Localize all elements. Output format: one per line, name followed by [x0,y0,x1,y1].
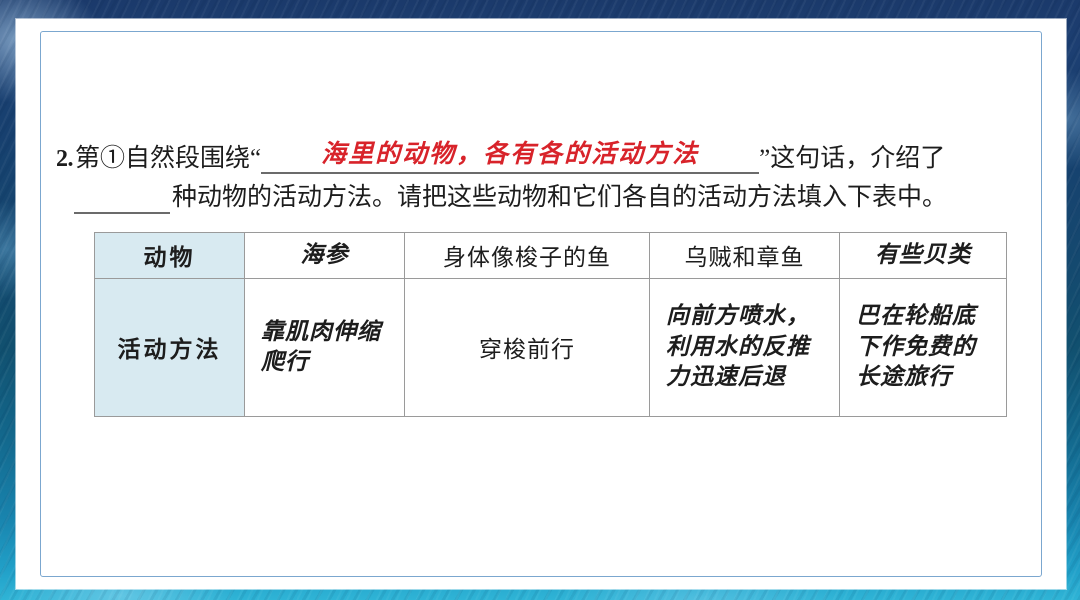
question-line2-text: 种动物的活动方法。请把这些动物和它们各自的活动方法填入下表中。 [172,182,947,213]
table-cell-method-2: 穿梭前行 [405,278,650,416]
table-cell-animal-3: 乌贼和章鱼 [650,232,840,278]
question-lead-text: 第①自然段围绕“ [75,143,261,174]
table-row: 动物 海参 身体像梭子的鱼 乌贼和章鱼 有些贝类 [95,232,1007,278]
question-after-quote-text: ”这句话，介绍了 [759,143,945,174]
answer-blank-quote[interactable]: 海里的动物，各有各的活动方法 [261,139,759,174]
answer-table: 动物 海参 身体像梭子的鱼 乌贼和章鱼 有些贝类 活动方法 靠肌肉伸缩爬行 穿梭… [94,232,1007,417]
table-cell-animal-4[interactable]: 有些贝类 [840,232,1007,278]
question-number: 2. [56,144,75,174]
answer-table-wrapper: 动物 海参 身体像梭子的鱼 乌贼和章鱼 有些贝类 活动方法 靠肌肉伸缩爬行 穿梭… [94,232,1036,417]
question-line-1: 2. 第①自然段围绕“ 海里的动物，各有各的活动方法 ”这句话，介绍了 [56,139,1036,174]
worksheet-page: 2. 第①自然段围绕“ 海里的动物，各有各的活动方法 ”这句话，介绍了 种动物的… [0,0,1080,600]
table-rowlabel-animal: 动物 [95,232,245,278]
answer-quote-text: 海里的动物，各有各的活动方法 [321,141,699,168]
table-rowlabel-method: 活动方法 [95,278,245,416]
table-cell-animal-2: 身体像梭子的鱼 [405,232,650,278]
table-cell-animal-1[interactable]: 海参 [245,232,405,278]
table-cell-method-4[interactable]: 巴在轮船底下作免费的长途旅行 [840,278,1007,416]
worksheet-card: 2. 第①自然段围绕“ 海里的动物，各有各的活动方法 ”这句话，介绍了 种动物的… [16,19,1066,589]
table-cell-method-1[interactable]: 靠肌肉伸缩爬行 [245,278,405,416]
question-content: 2. 第①自然段围绕“ 海里的动物，各有各的活动方法 ”这句话，介绍了 种动物的… [56,139,1036,417]
table-row: 活动方法 靠肌肉伸缩爬行 穿梭前行 向前方喷水，利用水的反推力迅速后退 巴在轮船… [95,278,1007,416]
answer-blank-count[interactable] [74,190,170,214]
question-line-2: 种动物的活动方法。请把这些动物和它们各自的活动方法填入下表中。 [74,182,1036,213]
table-cell-method-3[interactable]: 向前方喷水，利用水的反推力迅速后退 [650,278,840,416]
